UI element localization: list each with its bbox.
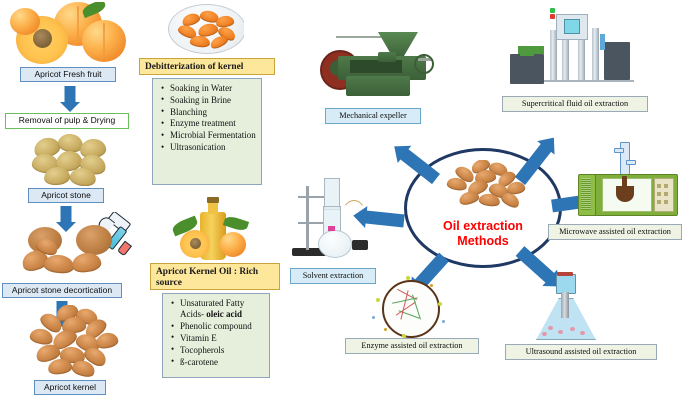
- apricot-stone-decortication-image: [20, 225, 120, 283]
- hub-title-line1: Oil extraction: [407, 219, 559, 233]
- flow-arrow-1: [58, 86, 82, 112]
- list-item: Vitamin E: [180, 333, 265, 344]
- apricot-kernel-image: [26, 305, 120, 377]
- ultrasound-extraction-image: [528, 272, 604, 340]
- hub-kernels-image: [445, 160, 527, 208]
- list-item: Unsaturated Fatty Acids- oleic acid: [180, 298, 265, 321]
- method-label-ultrasound: Ultrasound assisted oil extraction: [505, 344, 657, 360]
- mechanical-expeller-image: [318, 14, 434, 98]
- list-item: Microbial Fermentation: [170, 130, 257, 141]
- kernel-oil-list: Unsaturated Fatty Acids- oleic acid Phen…: [162, 293, 270, 378]
- step-label-apricot-kernel: Apricot kernel: [34, 380, 106, 395]
- list-item: Ultrasonication: [170, 142, 257, 153]
- supercritical-fluid-rig-image: [500, 6, 660, 88]
- list-item: Blanching: [170, 107, 257, 118]
- list-item: Soaking in Water: [170, 83, 257, 94]
- microwave-extraction-image: [578, 142, 682, 218]
- apricot-kernel-oil-image: [166, 196, 252, 262]
- kernel-oil-header: Apricot Kernel Oil : Rich source: [150, 263, 280, 290]
- solvent-extraction-image: [290, 176, 380, 260]
- list-item-emphasis: oleic acid: [206, 309, 242, 319]
- step-label-removal-of-pulp: Removal of pulp & Drying: [5, 113, 129, 129]
- apricot-fresh-fruit-image: [8, 2, 128, 64]
- step-label-apricot-fresh-fruit: Apricot Fresh fruit: [20, 67, 116, 82]
- apricot-stone-image: [30, 134, 112, 186]
- list-item: Enzyme treatment: [170, 118, 257, 129]
- step-label-apricot-stone-decortication: Apricot stone decortication: [2, 283, 122, 298]
- list-item: Soaking in Brine: [170, 95, 257, 106]
- list-item: ß-carotene: [180, 357, 265, 368]
- method-label-enzyme: Enzyme assisted oil extraction: [345, 338, 479, 354]
- hub-title-line2: Methods: [407, 234, 559, 248]
- enzyme-extraction-image: [372, 276, 448, 338]
- method-label-solvent: Solvent extraction: [290, 268, 376, 284]
- kernels-in-bowl-image: [168, 2, 244, 54]
- method-label-microwave: Microwave assisted oil extraction: [548, 224, 682, 240]
- debitterization-header: Debitterization of kernel: [139, 58, 275, 75]
- list-item: Tocopherols: [180, 345, 265, 356]
- method-label-supercritical: Supercritical fluid oil extraction: [502, 96, 648, 112]
- hub-title: Oil extraction Methods: [407, 219, 559, 248]
- step-label-apricot-stone: Apricot stone: [28, 188, 104, 203]
- method-label-mechanical-expeller: Mechanical expeller: [325, 108, 421, 124]
- list-item: Phenolic compound: [180, 321, 265, 332]
- debitterization-list: Soaking in Water Soaking in Brine Blanch…: [152, 78, 262, 185]
